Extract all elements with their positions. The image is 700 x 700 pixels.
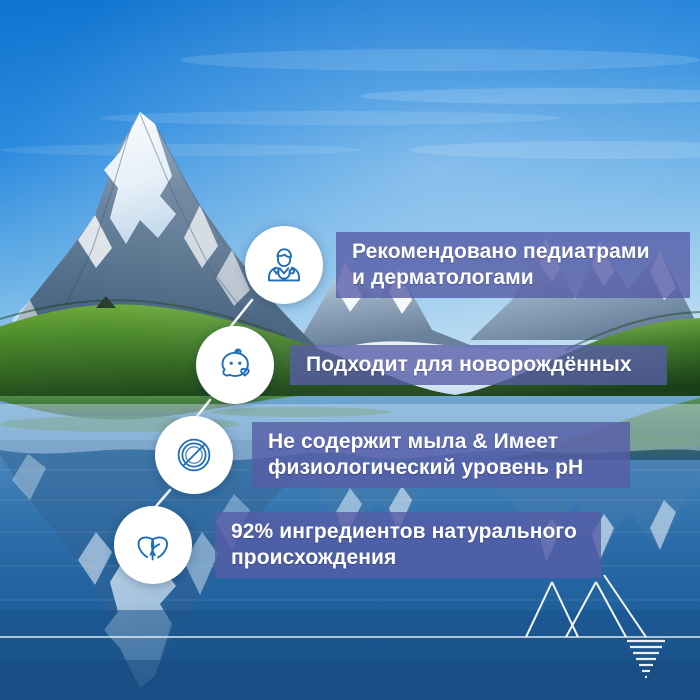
- feature-text-0-line-1: и дерматологами: [352, 265, 676, 290]
- feature-item-0: Рекомендовано педиатрами и дерматологами: [245, 226, 690, 304]
- feature-text-1-line-0: Подходит для новорождённых: [306, 352, 653, 377]
- feature-badge-2: [155, 416, 233, 494]
- feature-badge-1: [196, 326, 274, 404]
- feature-text-2-line-0: Не содержит мыла & Имеет: [268, 429, 616, 454]
- natural-leaves-plant-icon: [127, 519, 179, 571]
- feature-item-2: Не содержит мыла & Имеет физиологический…: [155, 416, 630, 494]
- no-soap-prohibited-icon: [169, 430, 219, 480]
- feature-text-3-line-1: происхождения: [231, 545, 587, 570]
- baby-face-heart-icon: [210, 340, 260, 390]
- feature-item-3: 92% ингредиентов натурального происхожде…: [114, 506, 601, 584]
- feature-badge-3: [114, 506, 192, 584]
- feature-text-3-line-0: 92% ингредиентов натурального: [231, 519, 587, 544]
- promo-poster: Рекомендовано педиатрами и дерматологами: [0, 0, 700, 700]
- feature-banner-3: 92% ингредиентов натурального происхожде…: [215, 512, 601, 577]
- feature-item-1: Подходит для новорождённых: [196, 326, 667, 404]
- feature-text-0-line-0: Рекомендовано педиатрами: [352, 239, 676, 264]
- feature-badge-0: [245, 226, 323, 304]
- feature-banner-0: Рекомендовано педиатрами и дерматологами: [336, 232, 690, 297]
- feature-text-2-line-1: физиологический уровень pH: [268, 455, 616, 480]
- feature-banner-2: Не содержит мыла & Имеет физиологический…: [252, 422, 630, 487]
- feature-banner-1: Подходит для новорождённых: [290, 345, 667, 385]
- doctor-stethoscope-icon: [259, 240, 309, 290]
